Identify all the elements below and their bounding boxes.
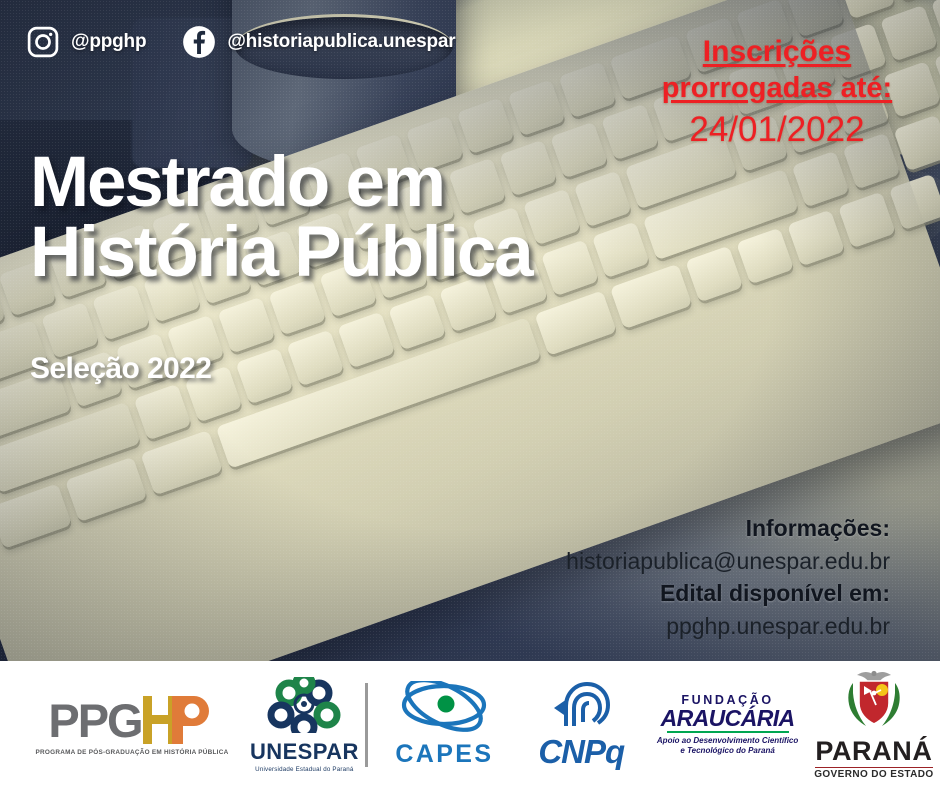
parana-logo: PARANÁ GOVERNO DO ESTADO xyxy=(808,669,940,781)
ppghp-ppg-text: PPG xyxy=(48,697,141,744)
edital-label: Edital disponível em: xyxy=(566,577,890,610)
araucaria-logo: FUNDAÇÃO ARAUCÁRIA Apoio ao Desenvolvime… xyxy=(647,693,807,757)
ppghp-wordmark: PPG xyxy=(48,694,215,744)
info-label: Informações: xyxy=(566,512,890,545)
araucaria-tagline-1: Apoio ao Desenvolvimento Científico xyxy=(657,736,798,746)
unespar-logo: UNESPAR Universidade Estadual do Paraná xyxy=(250,677,359,773)
callout-line1: Inscrições xyxy=(642,34,912,71)
social-bar: @ppghp @historiapublica.unespar xyxy=(26,25,455,59)
deadline-date: 24/01/2022 xyxy=(642,108,912,152)
unespar-name: UNESPAR xyxy=(250,739,359,765)
parana-name: PARANÁ xyxy=(815,738,932,765)
instagram-group[interactable]: @ppghp xyxy=(26,25,146,59)
contact-email[interactable]: historiapublica@unespar.edu.br xyxy=(566,545,890,578)
araucaria-name: ARAUCÁRIA xyxy=(661,707,795,730)
ppghp-logo: PPG PROGRAMA DE PÓS-GRADUAÇÃO EM HISTÓRI… xyxy=(14,694,250,756)
unespar-emblem xyxy=(267,677,341,738)
parana-rule xyxy=(815,767,933,769)
facebook-group[interactable]: @historiapublica.unespar xyxy=(182,25,455,59)
callout-line2: prorrogadas até: xyxy=(642,71,912,106)
cnpq-emblem xyxy=(550,678,612,735)
contact-block: Informações: historiapublica@unespar.edu… xyxy=(566,512,890,643)
facebook-handle[interactable]: @historiapublica.unespar xyxy=(227,31,455,53)
araucaria-tagline-2: e Tecnológico do Paraná xyxy=(680,746,774,756)
capes-logo: CAPES xyxy=(374,681,516,769)
contact-website[interactable]: ppghp.unespar.edu.br xyxy=(566,610,890,643)
subtitle: Seleção 2022 xyxy=(30,352,211,386)
cnpq-name: CNPq xyxy=(538,733,624,771)
unespar-subtitle: Universidade Estadual do Paraná xyxy=(255,766,353,773)
capes-emblem xyxy=(396,681,492,738)
title-line2: História Pública xyxy=(30,218,531,288)
poster: @ppghp @historiapublica.unespar Inscriçõ… xyxy=(0,0,940,788)
capes-name: CAPES xyxy=(395,740,493,769)
sponsor-footer: PPG PROGRAMA DE PÓS-GRADUAÇÃO EM HISTÓRI… xyxy=(0,661,940,788)
facebook-icon[interactable] xyxy=(182,25,216,59)
araucaria-rule xyxy=(667,731,789,733)
page-title: Mestrado em História Pública xyxy=(30,148,531,289)
ppghp-hp-mark xyxy=(142,694,216,744)
instagram-handle[interactable]: @ppghp xyxy=(71,31,146,53)
ppghp-tagline: PROGRAMA DE PÓS-GRADUAÇÃO EM HISTÓRIA PÚ… xyxy=(36,749,229,756)
parana-subtitle: GOVERNO DO ESTADO xyxy=(814,769,933,780)
cnpq-logo: CNPq xyxy=(515,678,647,771)
parana-coat-of-arms xyxy=(837,669,911,736)
instagram-icon[interactable] xyxy=(26,25,60,59)
footer-divider xyxy=(365,683,368,767)
deadline-callout: Inscrições prorrogadas até: 24/01/2022 xyxy=(642,34,912,152)
title-line1: Mestrado em xyxy=(30,148,531,218)
